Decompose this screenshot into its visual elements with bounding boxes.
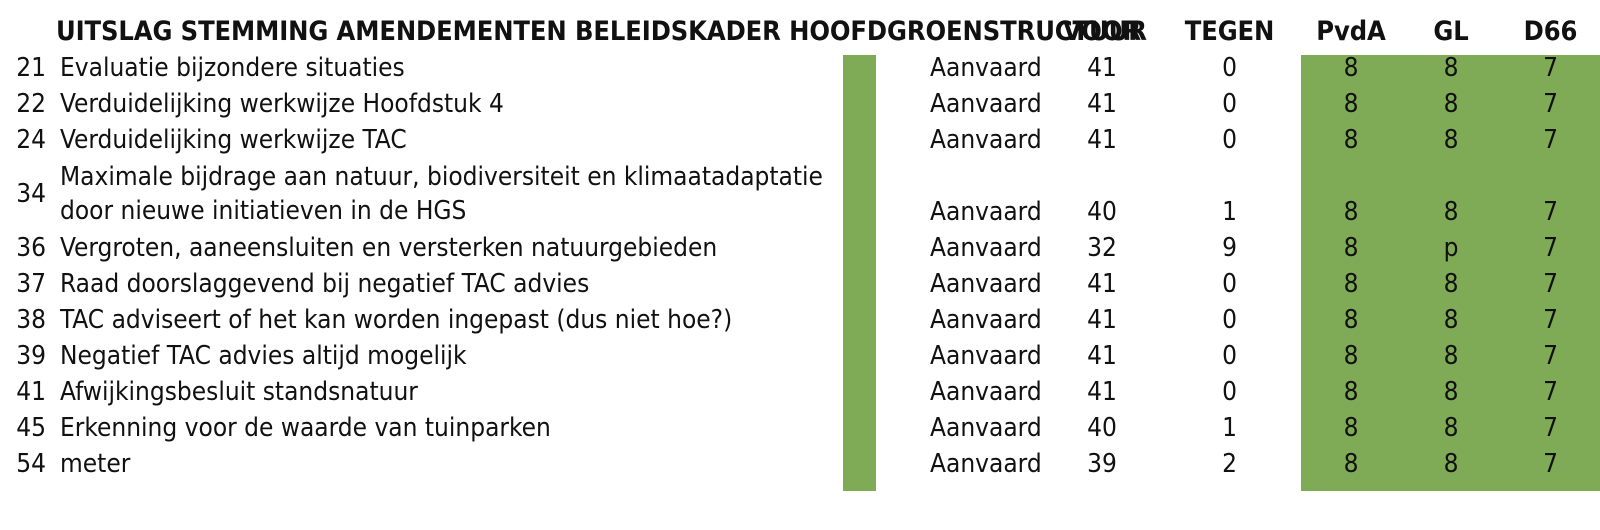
row-d66: 7: [1501, 338, 1600, 374]
row-pvda: 8: [1301, 86, 1401, 122]
row-tegen: 0: [1158, 50, 1301, 86]
row-description: Verduidelijking werkwijze TAC: [52, 122, 843, 158]
row-description: Verduidelijking werkwijze Hoofdstuk 4: [52, 86, 843, 122]
row-description: Vergroten, aaneensluiten en versterken n…: [52, 230, 843, 266]
row-voor: 40: [1046, 158, 1158, 230]
row-pvda: 8: [1301, 50, 1401, 86]
row-voor: 41: [1046, 302, 1158, 338]
row-number: 22: [0, 86, 52, 122]
row-pvda: 8: [1301, 230, 1401, 266]
row-status: Aanvaard: [903, 50, 1046, 86]
row-status: Aanvaard: [903, 446, 1046, 482]
row-description: Afwijkingsbesluit standsnatuur: [52, 374, 843, 410]
row-tegen: 0: [1158, 122, 1301, 158]
row-voor: 32: [1046, 230, 1158, 266]
row-voor: 41: [1046, 266, 1158, 302]
row-description: TAC adviseert of het kan worden ingepast…: [52, 302, 843, 338]
row-gap: [843, 86, 903, 122]
row-number: 45: [0, 410, 52, 446]
table-row: 38 TAC adviseert of het kan worden ingep…: [0, 302, 1600, 338]
row-gap: [843, 50, 903, 86]
row-status: Aanvaard: [903, 266, 1046, 302]
row-tegen: 0: [1158, 338, 1301, 374]
row-number: 21: [0, 50, 52, 86]
row-description: Raad doorslaggevend bij negatief TAC adv…: [52, 266, 843, 302]
row-status: Aanvaard: [903, 158, 1046, 230]
table-body: UITSLAG STEMMING AMENDEMENTEN BELEIDSKAD…: [0, 0, 1600, 482]
row-gap: [843, 410, 903, 446]
table-row: 21 Evaluatie bijzondere situaties Aanvaa…: [0, 50, 1600, 86]
row-number: 39: [0, 338, 52, 374]
row-tegen: 1: [1158, 158, 1301, 230]
row-d66: 7: [1501, 266, 1600, 302]
row-gl: 8: [1401, 302, 1501, 338]
row-gap: [843, 302, 903, 338]
table-header-row: UITSLAG STEMMING AMENDEMENTEN BELEIDSKAD…: [0, 0, 1600, 50]
row-pvda: 8: [1301, 338, 1401, 374]
row-description: Maximale bijdrage aan natuur, biodiversi…: [52, 158, 843, 230]
column-header-pvda: PvdA: [1301, 0, 1401, 50]
row-status: Aanvaard: [903, 122, 1046, 158]
row-pvda: 8: [1301, 410, 1401, 446]
row-gap: [843, 230, 903, 266]
row-gl: 8: [1401, 374, 1501, 410]
row-gap: [843, 446, 903, 482]
row-number: 37: [0, 266, 52, 302]
row-gl: 8: [1401, 50, 1501, 86]
table-row: 54 meter Aanvaard 39 2 8 8 7: [0, 446, 1600, 482]
row-number: 54: [0, 446, 52, 482]
row-tegen: 2: [1158, 446, 1301, 482]
row-d66: 7: [1501, 446, 1600, 482]
page-title: UITSLAG STEMMING AMENDEMENTEN BELEIDSKAD…: [52, 0, 1046, 50]
row-d66: 7: [1501, 158, 1600, 230]
row-d66: 7: [1501, 410, 1600, 446]
row-d66: 7: [1501, 50, 1600, 86]
row-pvda: 8: [1301, 158, 1401, 230]
row-gap: [843, 374, 903, 410]
row-number: 38: [0, 302, 52, 338]
row-description: Erkenning voor de waarde van tuinparken: [52, 410, 843, 446]
row-d66: 7: [1501, 86, 1600, 122]
row-gl: 8: [1401, 446, 1501, 482]
table-row: 24 Verduidelijking werkwijze TAC Aanvaar…: [0, 122, 1600, 158]
row-voor: 41: [1046, 86, 1158, 122]
row-tegen: 0: [1158, 266, 1301, 302]
row-number: 36: [0, 230, 52, 266]
row-status: Aanvaard: [903, 374, 1046, 410]
row-tegen: 0: [1158, 86, 1301, 122]
table-row: 22 Verduidelijking werkwijze Hoofdstuk 4…: [0, 86, 1600, 122]
row-gap: [843, 266, 903, 302]
row-tegen: 1: [1158, 410, 1301, 446]
row-status: Aanvaard: [903, 410, 1046, 446]
row-tegen: 9: [1158, 230, 1301, 266]
row-pvda: 8: [1301, 302, 1401, 338]
row-pvda: 8: [1301, 122, 1401, 158]
row-gap: [843, 158, 903, 230]
column-header-tegen: TEGEN: [1158, 0, 1301, 50]
row-voor: 41: [1046, 122, 1158, 158]
row-pvda: 8: [1301, 266, 1401, 302]
table-row: 45 Erkenning voor de waarde van tuinpark…: [0, 410, 1600, 446]
row-status: Aanvaard: [903, 86, 1046, 122]
table-row: 41 Afwijkingsbesluit standsnatuur Aanvaa…: [0, 374, 1600, 410]
column-header-d66: D66: [1501, 0, 1600, 50]
row-gap: [843, 122, 903, 158]
column-header-gl: GL: [1401, 0, 1501, 50]
row-tegen: 0: [1158, 374, 1301, 410]
row-d66: 7: [1501, 302, 1600, 338]
row-status: Aanvaard: [903, 230, 1046, 266]
row-tegen: 0: [1158, 302, 1301, 338]
row-gl: 8: [1401, 266, 1501, 302]
row-gl: 8: [1401, 410, 1501, 446]
row-gl: 8: [1401, 86, 1501, 122]
row-voor: 41: [1046, 50, 1158, 86]
vote-results-sheet: UITSLAG STEMMING AMENDEMENTEN BELEIDSKAD…: [0, 0, 1600, 530]
row-status: Aanvaard: [903, 302, 1046, 338]
row-description: Evaluatie bijzondere situaties: [52, 50, 843, 86]
row-gl: 8: [1401, 158, 1501, 230]
row-number: 34: [0, 158, 52, 230]
row-voor: 41: [1046, 374, 1158, 410]
header-spacer: [0, 0, 52, 50]
row-gl: 8: [1401, 122, 1501, 158]
row-voor: 40: [1046, 410, 1158, 446]
row-gl: 8: [1401, 338, 1501, 374]
row-pvda: 8: [1301, 374, 1401, 410]
row-status: Aanvaard: [903, 338, 1046, 374]
row-pvda: 8: [1301, 446, 1401, 482]
row-gap: [843, 338, 903, 374]
table-row: 36 Vergroten, aaneensluiten en versterke…: [0, 230, 1600, 266]
row-voor: 39: [1046, 446, 1158, 482]
table-row: 39 Negatief TAC advies altijd mogelijk A…: [0, 338, 1600, 374]
row-gl: p: [1401, 230, 1501, 266]
row-number: 41: [0, 374, 52, 410]
table-row: 34 Maximale bijdrage aan natuur, biodive…: [0, 158, 1600, 230]
row-d66: 7: [1501, 230, 1600, 266]
row-d66: 7: [1501, 374, 1600, 410]
row-voor: 41: [1046, 338, 1158, 374]
vote-results-table: UITSLAG STEMMING AMENDEMENTEN BELEIDSKAD…: [0, 0, 1600, 482]
row-description: Negatief TAC advies altijd mogelijk: [52, 338, 843, 374]
row-d66: 7: [1501, 122, 1600, 158]
table-row: 37 Raad doorslaggevend bij negatief TAC …: [0, 266, 1600, 302]
row-description: meter: [52, 446, 843, 482]
row-number: 24: [0, 122, 52, 158]
